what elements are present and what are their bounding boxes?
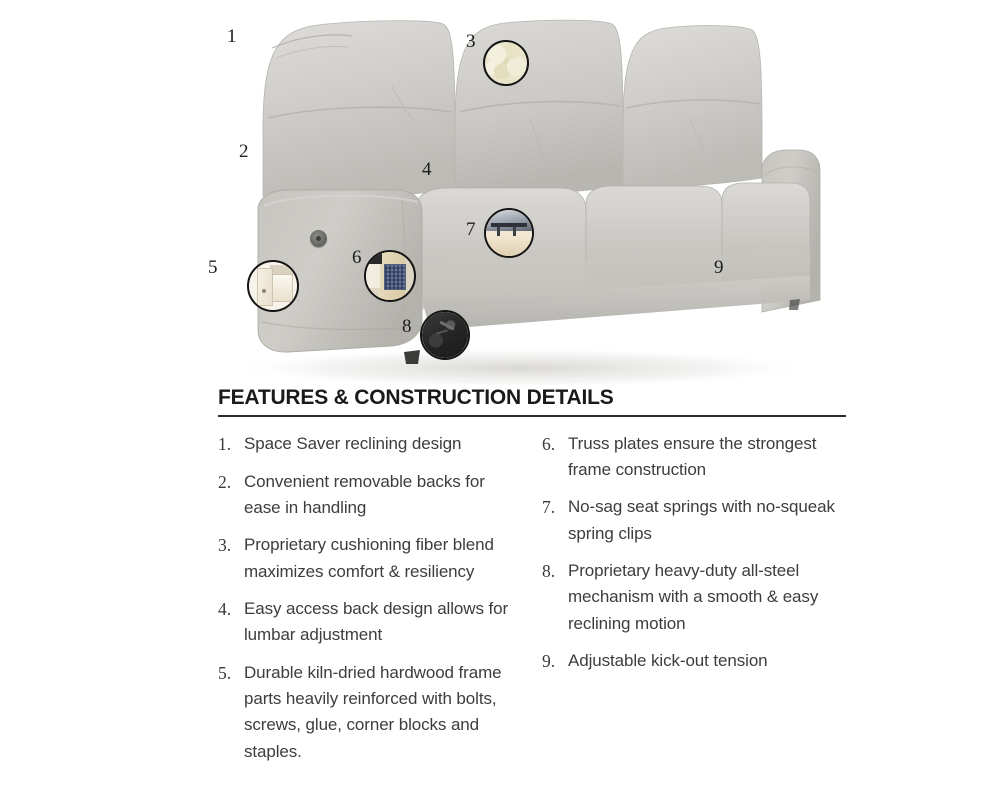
list-item-text: Adjustable kick-out tension [568, 648, 768, 674]
list-item-text: Durable kiln-dried hardwood frame parts … [244, 660, 524, 765]
list-item: 9. Adjustable kick-out tension [542, 648, 848, 675]
features-columns: 1. Space Saver reclining design 2. Conve… [218, 431, 848, 777]
list-item: 6. Truss plates ensure the strongest fra… [542, 431, 848, 484]
list-item-text: Space Saver reclining design [244, 431, 461, 457]
recliner-handle-knob [310, 230, 327, 247]
list-item-text: Proprietary heavy-duty all-steel mechani… [568, 558, 848, 637]
list-item: 7. No-sag seat springs with no-squeak sp… [542, 494, 848, 547]
list-item-text: Proprietary cushioning fiber blend maxim… [244, 532, 524, 585]
list-item-number: 2. [218, 469, 244, 496]
list-item: 5. Durable kiln-dried hardwood frame par… [218, 660, 524, 765]
list-item-text: No-sag seat springs with no-squeak sprin… [568, 494, 848, 547]
callout-number-1: 1 [227, 27, 237, 46]
callout-number-5: 5 [208, 258, 218, 277]
features-right-column: 6. Truss plates ensure the strongest fra… [542, 431, 848, 777]
list-item: 1. Space Saver reclining design [218, 431, 524, 458]
callout-number-7: 7 [466, 220, 476, 239]
list-item-number: 5. [218, 660, 244, 687]
product-illustration: 1 2 3 4 5 6 7 8 9 [0, 0, 1000, 385]
detail-circle-fiber-blend [483, 40, 529, 86]
list-item-number: 3. [218, 532, 244, 559]
list-item: 3. Proprietary cushioning fiber blend ma… [218, 532, 524, 585]
detail-circle-truss-plate [364, 250, 416, 302]
heading-divider [218, 415, 846, 417]
list-item: 2. Convenient removable backs for ease i… [218, 469, 524, 522]
callout-number-9: 9 [714, 258, 724, 277]
callout-number-8: 8 [402, 317, 412, 336]
list-item: 8. Proprietary heavy-duty all-steel mech… [542, 558, 848, 637]
list-item: 4. Easy access back design allows for lu… [218, 596, 524, 649]
list-item-text: Convenient removable backs for ease in h… [244, 469, 524, 522]
callout-number-3: 3 [466, 32, 476, 51]
callout-number-2: 2 [239, 142, 249, 161]
list-item-number: 9. [542, 648, 568, 675]
detail-circle-steel-mechanism [420, 310, 470, 360]
detail-circle-hardwood-frame [247, 260, 299, 312]
features-left-column: 1. Space Saver reclining design 2. Conve… [218, 431, 524, 777]
list-item-text: Truss plates ensure the strongest frame … [568, 431, 848, 484]
list-item-number: 8. [542, 558, 568, 585]
list-item-number: 7. [542, 494, 568, 521]
detail-circle-seat-springs [484, 208, 534, 258]
list-item-number: 4. [218, 596, 244, 623]
list-item-text: Easy access back design allows for lumba… [244, 596, 524, 649]
section-heading: FEATURES & CONSTRUCTION DETAILS [218, 386, 848, 415]
callout-number-4: 4 [422, 160, 432, 179]
callout-number-6: 6 [352, 248, 362, 267]
features-construction-section: FEATURES & CONSTRUCTION DETAILS 1. Space… [218, 386, 848, 776]
list-item-number: 1. [218, 431, 244, 458]
list-item-number: 6. [542, 431, 568, 458]
